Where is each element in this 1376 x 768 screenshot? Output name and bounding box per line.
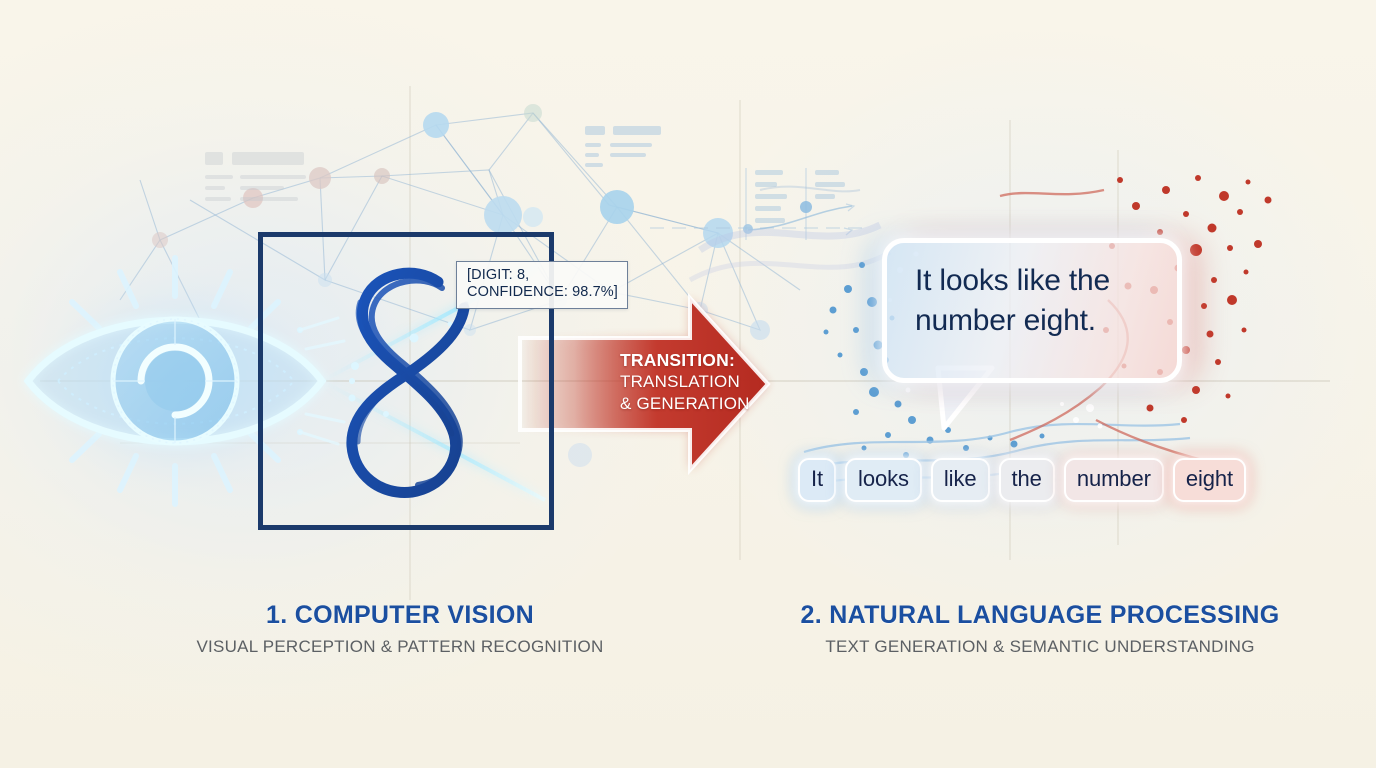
confidence-label: [DIGIT: 8, CONFIDENCE: 98.7%] [456, 261, 628, 309]
frame-edge-top-left [258, 232, 438, 237]
token-chip[interactable]: the [999, 458, 1055, 502]
caption-left-subtitle: VISUAL PERCEPTION & PATTERN RECOGNITION [140, 635, 660, 659]
caption-natural-language-processing: 2. NATURAL LANGUAGE PROCESSING TEXT GENE… [720, 600, 1360, 659]
caption-right-subtitle: TEXT GENERATION & SEMANTIC UNDERSTANDING [720, 635, 1360, 659]
speech-bubble-text: It looks like the number eight. [915, 261, 1165, 341]
token-chip-row: Itlookslikethenumbereight [798, 458, 1246, 502]
token-chip[interactable]: eight [1173, 458, 1246, 502]
token-chip[interactable]: looks [845, 458, 922, 502]
transition-arrow [520, 298, 768, 470]
frame-edge-bottom [258, 525, 554, 530]
frame-edge-top-right [432, 232, 554, 237]
token-chip[interactable]: like [931, 458, 990, 502]
token-chip[interactable]: number [1064, 458, 1164, 502]
frame-edge-left [258, 232, 263, 530]
document-placeholder-right [585, 126, 661, 167]
infographic-canvas: [DIGIT: 8, CONFIDENCE: 98.7%] TRANSITION… [0, 0, 1376, 768]
caption-left-title: 1. COMPUTER VISION [140, 600, 660, 630]
token-chip[interactable]: It [798, 458, 836, 502]
handwritten-digit-8 [352, 273, 466, 492]
caption-right-title: 2. NATURAL LANGUAGE PROCESSING [720, 600, 1360, 630]
document-placeholder-flow [755, 170, 845, 223]
caption-computer-vision: 1. COMPUTER VISION VISUAL PERCEPTION & P… [140, 600, 660, 659]
speech-bubble: It looks like the number eight. [882, 238, 1182, 383]
